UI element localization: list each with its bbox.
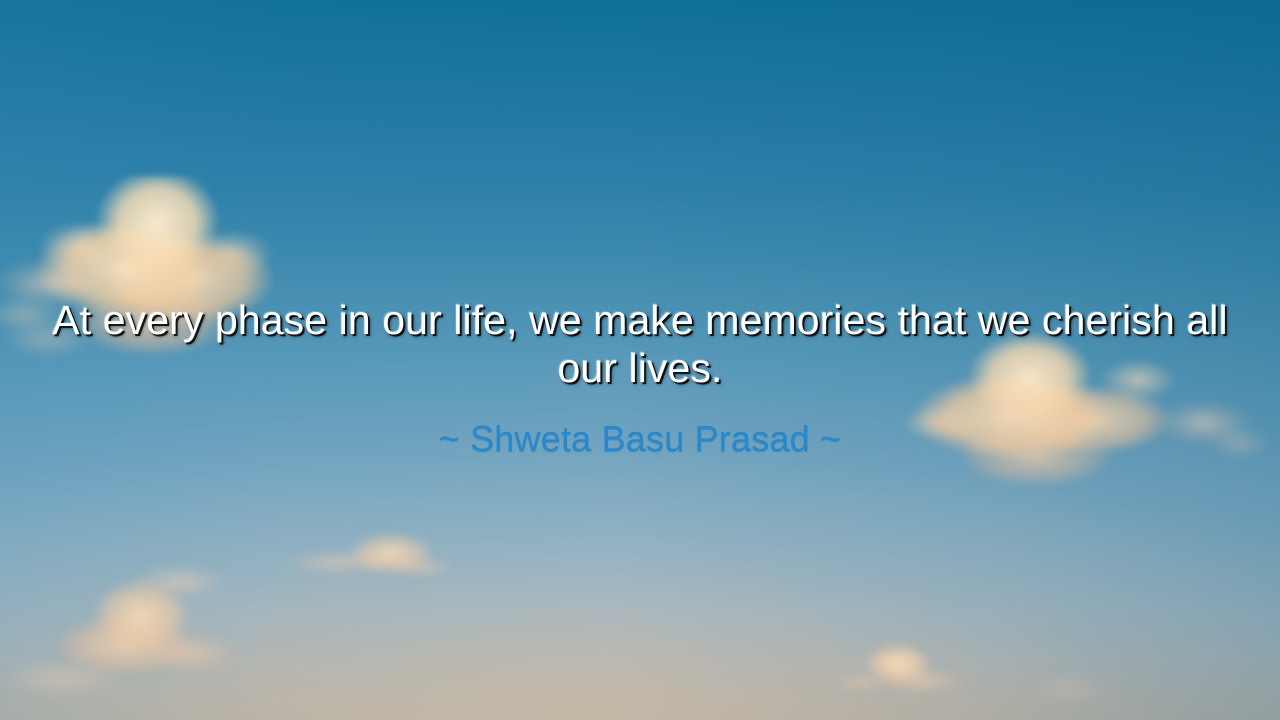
quote-attribution: ~ Shweta Basu Prasad ~ (50, 418, 1230, 460)
quote-image-canvas: At every phase in our life, we make memo… (0, 0, 1280, 720)
quote-block: At every phase in our life, we make memo… (50, 296, 1230, 460)
quote-text: At every phase in our life, we make memo… (50, 296, 1230, 392)
sky-warm-horizon-haze (0, 418, 1280, 720)
